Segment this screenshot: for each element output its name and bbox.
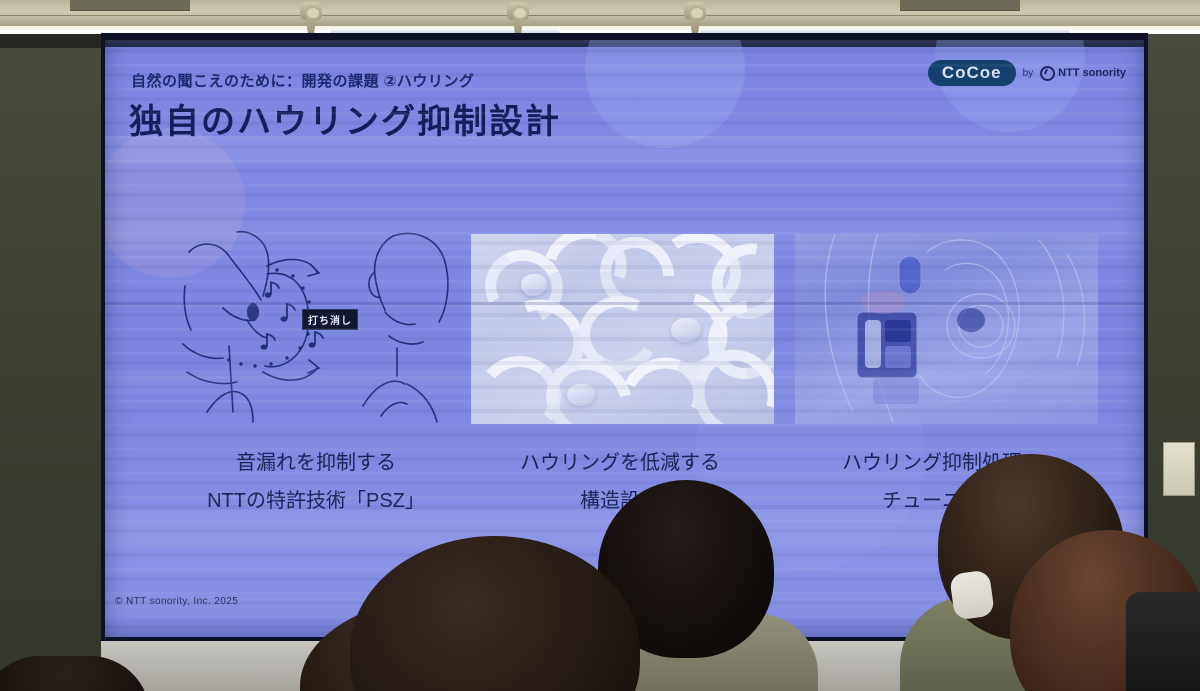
conference-room-photo: 自然の聞こえのために：開発の課題 ②ハウリング 独自のハウリング抑制設計 CoC… [0, 0, 1200, 691]
caption-line: NTTの特許技術「PSZ」 [151, 482, 481, 520]
ceiling-vent [70, 0, 190, 11]
caption-line: ハウリングを低減する [455, 444, 785, 482]
ntt-logo-text: NTT sonority [1058, 67, 1126, 79]
cancellation-badge: 打ち消し [302, 309, 358, 330]
xray-outline-icon [795, 234, 1098, 424]
ceiling-vent [900, 0, 1020, 11]
wall-sign-panel [1163, 442, 1195, 496]
ceiling-seam [0, 15, 1200, 16]
panel-internal-electronics [795, 226, 1098, 428]
prototype-photo [471, 234, 774, 424]
panel-psz-illustration: 打ち消し [167, 226, 470, 428]
slide-footer-copyright: © NTT sonority, Inc. 2025 [115, 596, 238, 607]
panel-row: 打ち消し [105, 226, 1144, 436]
face-mask [949, 569, 995, 620]
spotlight-ring-icon [305, 6, 321, 20]
caption-line: 音漏れを抑制する [151, 444, 481, 482]
xray-electronics-photo [795, 234, 1098, 424]
ntt-circle-mark-icon [1040, 66, 1055, 81]
left-wall-shadow [0, 34, 101, 48]
slide-subtitle: 自然の聞こえのために：開発の課題 ②ハウリング [131, 70, 474, 91]
cocoe-logo-pill: CoCoe [928, 60, 1016, 86]
spotlight-ring-icon [512, 6, 528, 20]
brand-logo: CoCoe by NTT sonority [928, 60, 1126, 86]
slide-title: 独自のハウリング抑制設計 [129, 94, 561, 143]
audience-object [1126, 592, 1200, 691]
logo-connector: by [1023, 68, 1034, 79]
caption-psz: 音漏れを抑制する NTTの特許技術「PSZ」 [151, 444, 481, 520]
panel-structure-prototypes [471, 226, 774, 428]
left-wall [0, 34, 101, 691]
ntt-sonority-logo: NTT sonority [1040, 66, 1126, 81]
spotlight-ring-icon [689, 6, 705, 20]
